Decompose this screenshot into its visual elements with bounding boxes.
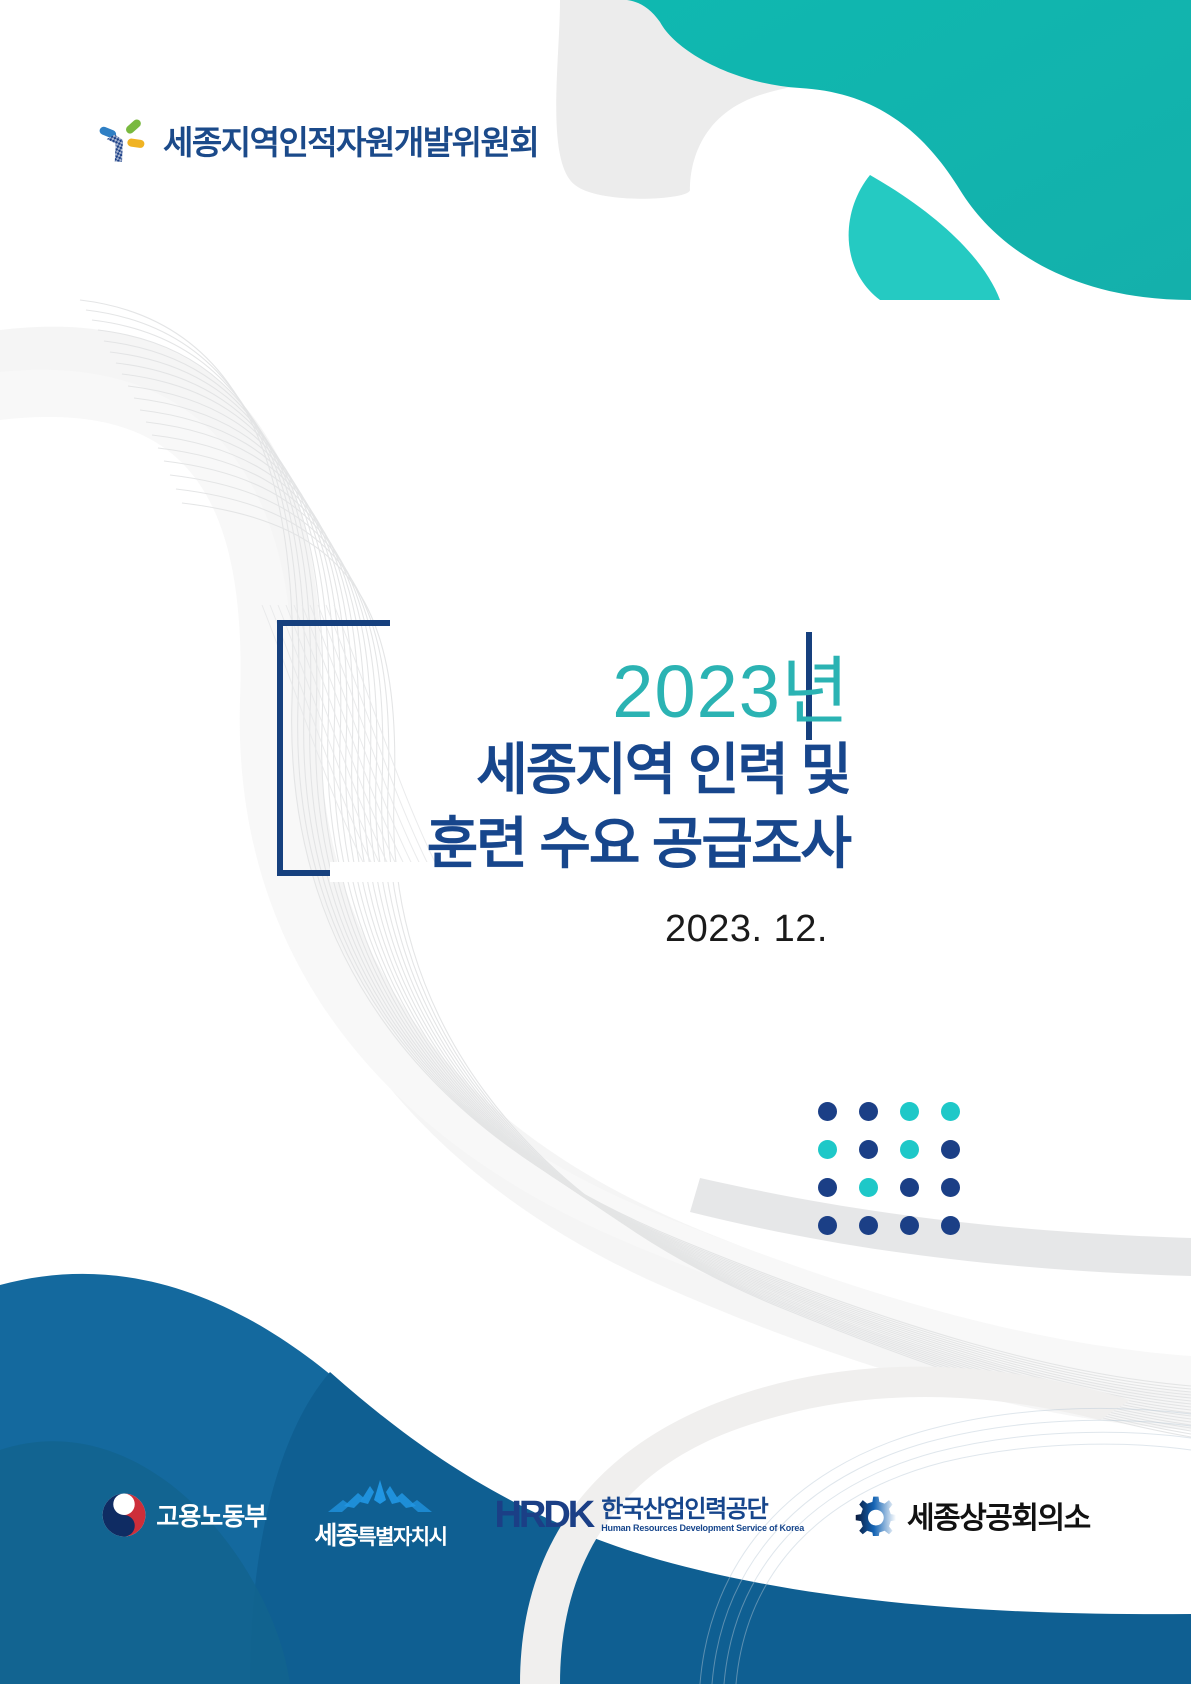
dot [900, 1140, 919, 1159]
dot [941, 1102, 960, 1121]
logo-label-sejong-city: 세종특별자치시 [314, 1516, 446, 1552]
header-organization-name: 세종지역인적자원개발위원회 [163, 116, 538, 164]
logo-label-sejong-chamber: 세종상공회의소 [907, 1493, 1090, 1537]
logo-label-sejong-light: 특별자치시 [357, 1526, 446, 1549]
dot [941, 1178, 960, 1197]
logo-ministry-of-employment-and-labor: 고용노동부 [101, 1492, 266, 1538]
hrdk-wordmark-icon: HRDK [494, 1494, 592, 1537]
dot [859, 1178, 878, 1197]
report-cover-page: 세종지역인적자원개발위원회 2023년 세종지역 인력 및 훈련 수요 공급조사… [0, 0, 1191, 1684]
taegeuk-icon [101, 1492, 147, 1538]
logo-label-sejong-strong: 세종 [314, 1522, 357, 1550]
title-line-1: 세종지역 인력 및 [300, 737, 850, 803]
logo-sejong-city: 세종특별자치시 [314, 1478, 446, 1552]
header-organization-logo: 세종지역인적자원개발위원회 [95, 113, 538, 167]
logo-hrdk: HRDK 한국산업인력공단 Human Resources Developmen… [494, 1494, 804, 1537]
dot [818, 1216, 837, 1235]
dot [818, 1178, 837, 1197]
title-block: 2023년 세종지역 인력 및 훈련 수요 공급조사 [300, 655, 850, 877]
decorative-dot-grid [818, 1102, 982, 1254]
sejong-hrd-council-star-icon [95, 113, 149, 167]
dot [859, 1216, 878, 1235]
dot [859, 1140, 878, 1159]
teal-blob-top [627, 0, 1191, 300]
title-year: 2023년 [300, 655, 850, 729]
grey-blob-top [556, 0, 900, 199]
logo-sejong-chamber-of-commerce: 세종상공회의소 [852, 1493, 1090, 1537]
dot [900, 1216, 919, 1235]
gear-icon [852, 1494, 898, 1536]
title-line-2: 훈련 수요 공급조사 [300, 811, 850, 877]
footer-logo-row: 고용노동부 세종특별자치시 HRDK [0, 1478, 1191, 1552]
sejong-wing-icon [320, 1478, 440, 1520]
dot [818, 1140, 837, 1159]
logo-label-hrdk-en: Human Resources Development Service of K… [601, 1523, 804, 1533]
dot [941, 1140, 960, 1159]
dot [941, 1216, 960, 1235]
dot [900, 1102, 919, 1121]
dot [859, 1102, 878, 1121]
logo-label-molab: 고용노동부 [156, 1497, 266, 1533]
logo-label-hrdk-kr: 한국산업인력공단 [601, 1497, 767, 1522]
dot [818, 1102, 837, 1121]
dot [900, 1178, 919, 1197]
frame-cut-top [390, 614, 820, 632]
publication-date: 2023. 12. [300, 908, 828, 951]
teal-lens [849, 175, 1000, 300]
